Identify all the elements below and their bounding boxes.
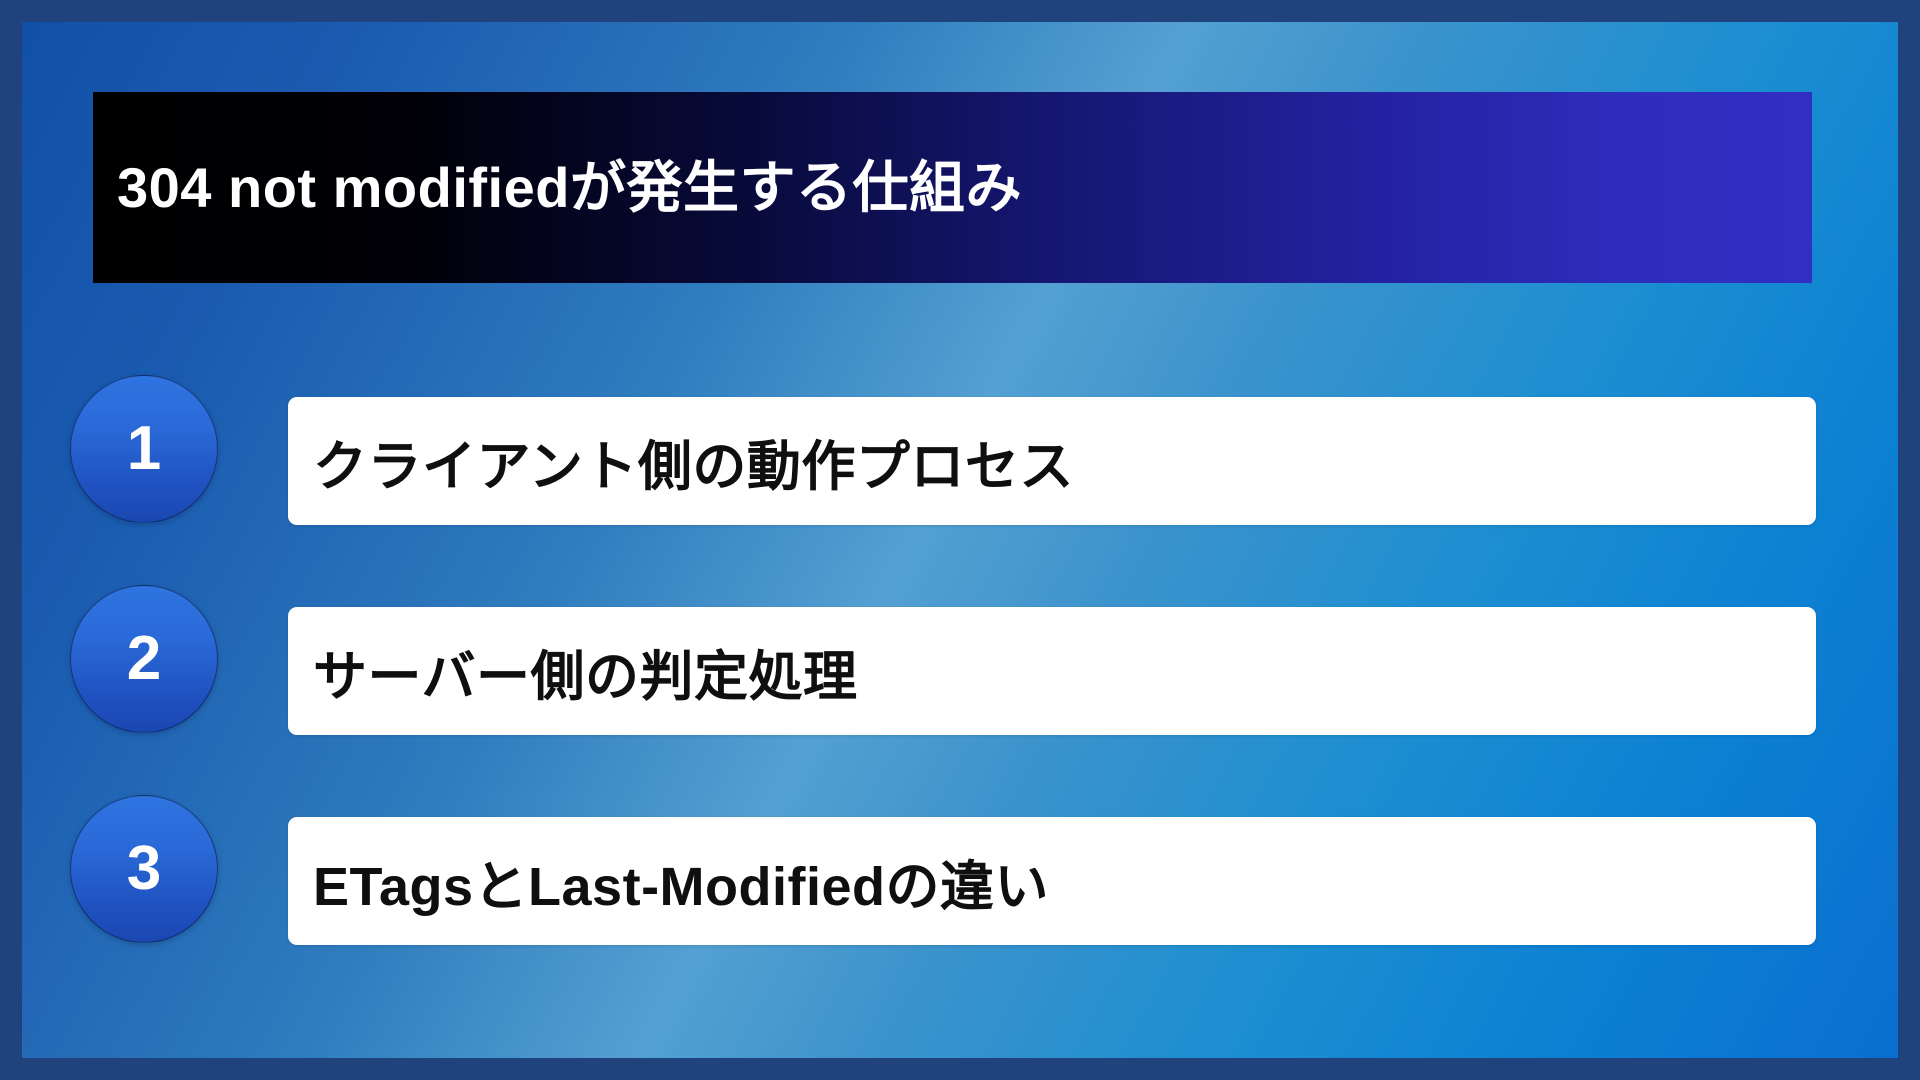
agenda-card-1[interactable]: クライアント側の動作プロセス bbox=[288, 397, 1816, 525]
page-title: 304 not modifiedが発生する仕組み bbox=[93, 157, 1022, 219]
step-number-label: 1 bbox=[127, 418, 161, 480]
slide-frame: 304 not modifiedが発生する仕組み 1 クライアント側の動作プロセ… bbox=[0, 0, 1920, 1080]
agenda-card-3[interactable]: ETagsとLast-Modifiedの違い bbox=[288, 817, 1816, 945]
list-item[interactable]: 2 サーバー側の判定処理 bbox=[22, 585, 1898, 735]
step-badge-2: 2 bbox=[70, 585, 218, 733]
list-item[interactable]: 3 ETagsとLast-Modifiedの違い bbox=[22, 795, 1898, 945]
slide-canvas: 304 not modifiedが発生する仕組み 1 クライアント側の動作プロセ… bbox=[22, 22, 1898, 1058]
step-badge-3: 3 bbox=[70, 795, 218, 943]
slide-title-bar: 304 not modifiedが発生する仕組み bbox=[93, 92, 1812, 283]
agenda-card-2[interactable]: サーバー側の判定処理 bbox=[288, 607, 1816, 735]
agenda-list: 1 クライアント側の動作プロセス 2 サーバー側の判定処理 3 bbox=[22, 375, 1898, 945]
agenda-card-label: クライアント側の動作プロセス bbox=[288, 422, 1074, 501]
agenda-card-label: ETagsとLast-Modifiedの違い bbox=[288, 842, 1049, 921]
agenda-card-label: サーバー側の判定処理 bbox=[288, 632, 857, 711]
step-number-label: 2 bbox=[127, 628, 161, 690]
step-number-label: 3 bbox=[127, 838, 161, 900]
step-badge-1: 1 bbox=[70, 375, 218, 523]
list-item[interactable]: 1 クライアント側の動作プロセス bbox=[22, 375, 1898, 525]
